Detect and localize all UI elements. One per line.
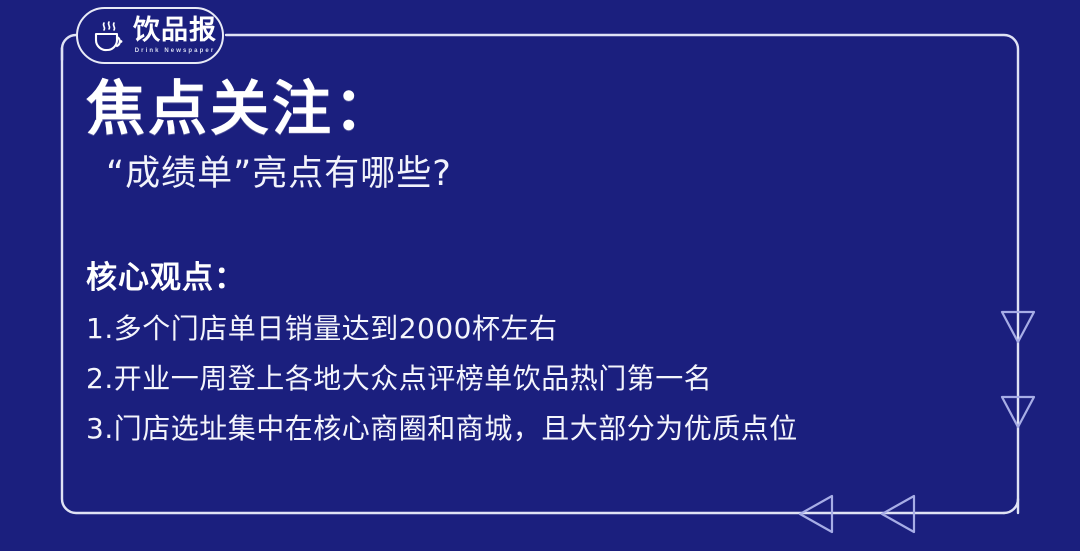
brand-name-en: Drink Newspaper <box>135 48 216 54</box>
list-item: 3.门店选址集中在核心商圈和商城，且大部分为优质点位 <box>86 415 986 443</box>
key-points-list: 1.多个门店单日销量达到2000杯左右 2.开业一周登上各地大众点评榜单饮品热门… <box>86 315 986 443</box>
page-title: 焦点关注： <box>86 78 986 140</box>
triangle-left-second-icon <box>872 489 924 539</box>
page-subtitle: “成绩单”亮点有哪些? <box>106 154 986 194</box>
list-item: 1.多个门店单日销量达到2000杯左右 <box>86 315 986 343</box>
coffee-cup-icon <box>91 20 127 54</box>
content-area: 焦点关注： “成绩单”亮点有哪些? 核心观点： 1.多个门店单日销量达到2000… <box>86 78 986 443</box>
brand-name-cn: 饮品报 <box>133 17 217 44</box>
triangle-left-first-icon <box>790 489 842 539</box>
list-item: 2.开业一周登上各地大众点评榜单饮品热门第一名 <box>86 365 986 393</box>
brand-text-group: 饮品报 Drink Newspaper <box>133 17 217 54</box>
triangle-down-upper-icon <box>994 302 1042 350</box>
poster-card: 饮品报 Drink Newspaper 焦点关注： “成绩单”亮点有哪些? 核心… <box>0 0 1080 551</box>
brand-logo-badge: 饮品报 Drink Newspaper <box>76 7 224 64</box>
triangle-down-lower-icon <box>994 387 1042 435</box>
key-points-heading: 核心观点： <box>86 252 986 297</box>
